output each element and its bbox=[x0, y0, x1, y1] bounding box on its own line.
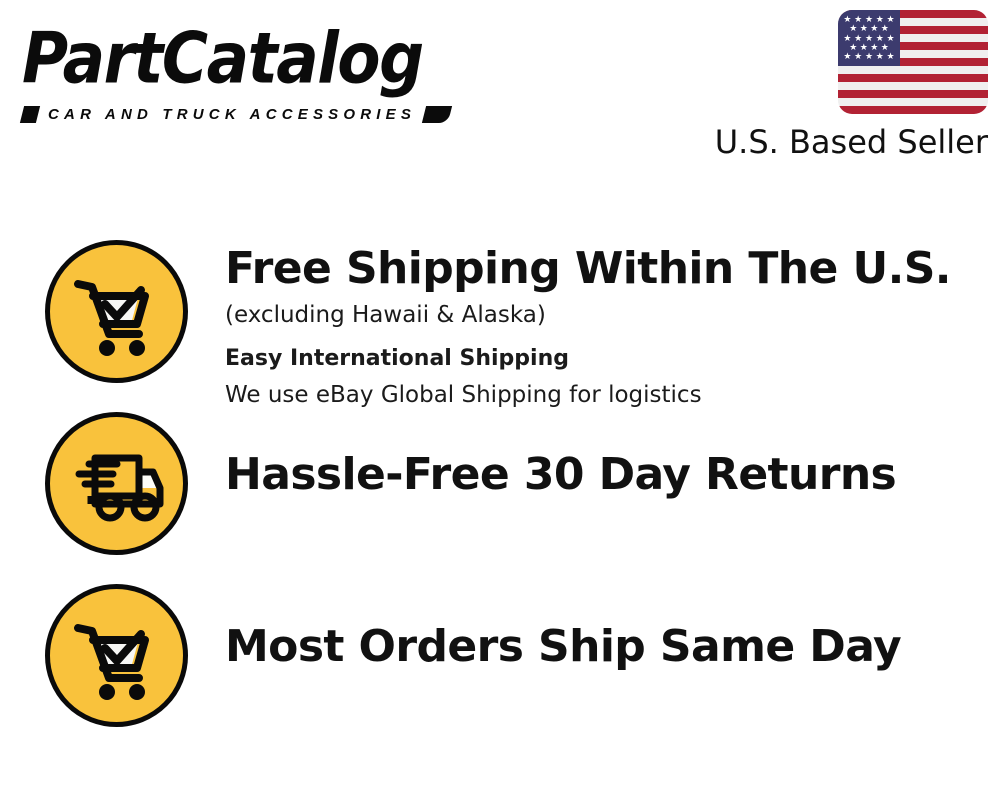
brand-subtitle-row: CAR AND TRUCK ACCESSORIES bbox=[22, 106, 492, 123]
feature-text-same-day: Most Orders Ship Same Day bbox=[225, 584, 901, 672]
feature-text-returns: Hassle-Free 30 Day Returns bbox=[225, 412, 896, 500]
flag-stripe bbox=[838, 82, 988, 90]
shopping-cart-check-icon bbox=[45, 584, 188, 727]
star-icon: ★ bbox=[887, 52, 895, 61]
shopping-cart-check-icon bbox=[45, 240, 188, 383]
star-icon: ★ bbox=[854, 52, 862, 61]
feature-text-free-shipping: Free Shipping Within The U.S. (excluding… bbox=[225, 240, 951, 410]
us-based-seller-block: ★ ★ ★ ★ ★ ★ ★ ★ ★ ★ ★ ★ ★ ★ bbox=[715, 10, 988, 161]
delivery-truck-icon bbox=[45, 412, 188, 555]
brand-wordmark: PartCatalog bbox=[22, 22, 492, 96]
star-icon: ★ bbox=[860, 24, 868, 33]
star-icon: ★ bbox=[881, 24, 889, 33]
shipping-info-banner: PartCatalog CAR AND TRUCK ACCESSORIES bbox=[0, 0, 1000, 800]
logo-right-swash-icon bbox=[422, 106, 452, 123]
flag-stripe bbox=[838, 90, 988, 98]
flag-canton: ★ ★ ★ ★ ★ ★ ★ ★ ★ ★ ★ ★ ★ ★ bbox=[838, 10, 900, 66]
feature-row-free-shipping: Free Shipping Within The U.S. (excluding… bbox=[0, 240, 1000, 412]
flag-star-row: ★ ★ ★ ★ bbox=[842, 24, 896, 33]
brand-subtitle: CAR AND TRUCK ACCESSORIES bbox=[48, 106, 416, 123]
logo-left-slash-icon bbox=[20, 106, 40, 123]
flag-star-row: ★ ★ ★ ★ ★ bbox=[842, 52, 896, 61]
feature-headline: Most Orders Ship Same Day bbox=[225, 622, 901, 672]
flag-stripe bbox=[838, 98, 988, 106]
star-icon: ★ bbox=[865, 52, 873, 61]
flag-stripe bbox=[838, 74, 988, 82]
flag-stripe bbox=[838, 106, 988, 114]
feature-row-returns: Hassle-Free 30 Day Returns bbox=[0, 412, 1000, 584]
feature-detail: We use eBay Global Shipping for logistic… bbox=[225, 380, 951, 410]
star-icon: ★ bbox=[843, 52, 851, 61]
brand-logo: PartCatalog CAR AND TRUCK ACCESSORIES bbox=[22, 22, 492, 123]
feature-subheading: Easy International Shipping bbox=[225, 344, 951, 374]
us-flag-icon: ★ ★ ★ ★ ★ ★ ★ ★ ★ ★ ★ ★ ★ ★ bbox=[838, 10, 988, 114]
feature-note: (excluding Hawaii & Alaska) bbox=[225, 300, 951, 330]
feature-headline: Hassle-Free 30 Day Returns bbox=[225, 450, 896, 500]
feature-row-same-day: Most Orders Ship Same Day bbox=[0, 584, 1000, 756]
us-based-seller-label: U.S. Based Seller bbox=[715, 123, 988, 161]
star-icon: ★ bbox=[849, 24, 857, 33]
feature-list: Free Shipping Within The U.S. (excluding… bbox=[0, 240, 1000, 756]
flag-stripe bbox=[838, 66, 988, 74]
star-icon: ★ bbox=[876, 52, 884, 61]
star-icon: ★ bbox=[870, 24, 878, 33]
feature-headline: Free Shipping Within The U.S. bbox=[225, 244, 951, 294]
